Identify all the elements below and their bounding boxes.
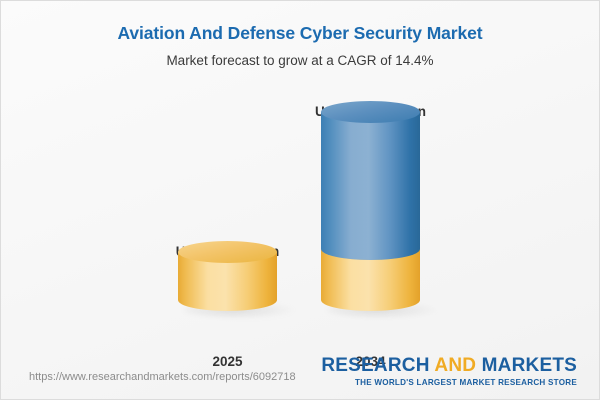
chart-title: Aviation And Defense Cyber Security Mark…: [1, 23, 599, 44]
research-and-markets-logo: RESEARCH AND MARKETS THE WORLD'S LARGEST…: [321, 356, 577, 387]
cylinder-2034: [321, 101, 420, 311]
logo-research-text: RESEARCH: [321, 355, 429, 376]
chart-subtitle: Market forecast to grow at a CAGR of 14.…: [1, 53, 599, 68]
logo-wordmark: RESEARCH AND MARKETS: [321, 356, 577, 375]
plot-area: USD 89.3 Billion: [1, 81, 599, 341]
logo-and-text: AND: [434, 355, 476, 376]
market-forecast-infographic: Aviation And Defense Cyber Security Mark…: [0, 0, 600, 400]
report-url[interactable]: https://www.researchandmarkets.com/repor…: [29, 371, 296, 383]
footer: https://www.researchandmarkets.com/repor…: [1, 347, 599, 399]
logo-markets-text: MARKETS: [482, 355, 577, 376]
cylinder-2025: [178, 241, 277, 311]
cylinder-2034-svg: [321, 101, 420, 311]
cylinder-2025-svg: [178, 241, 277, 311]
logo-tagline: THE WORLD'S LARGEST MARKET RESEARCH STOR…: [321, 379, 577, 387]
